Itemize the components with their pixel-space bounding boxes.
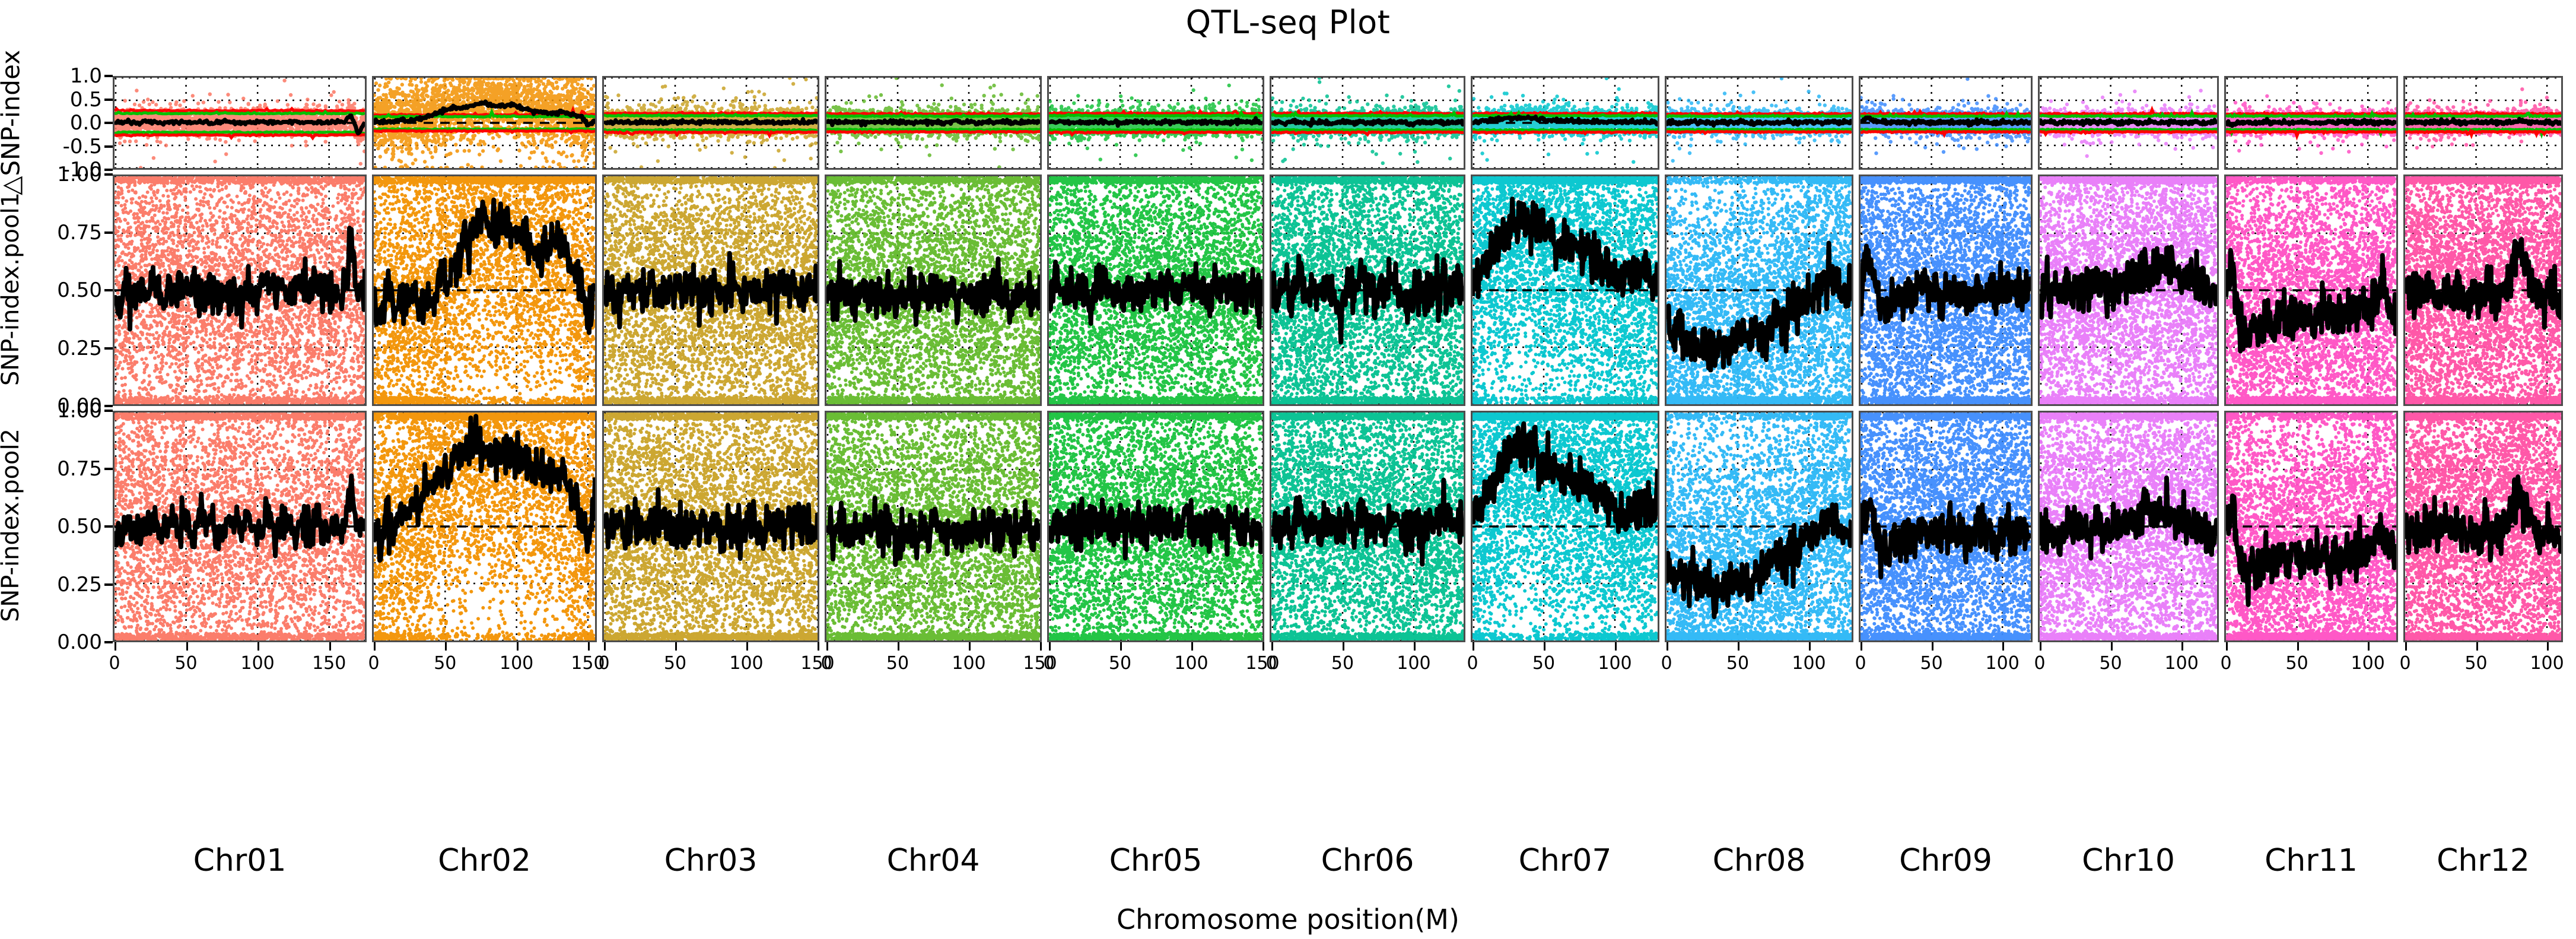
x-tick-mark-chr06-0 [1271, 642, 1273, 651]
panel-delta-chr08[interactable] [1665, 76, 1853, 170]
x-tick-mark-chr03-3 [818, 642, 819, 651]
panel-delta-chr07[interactable] [1471, 76, 1659, 170]
panel-inner [1667, 413, 1852, 640]
panel-canvas [2226, 413, 2396, 640]
y-axis-label-pool2: SNP-index.pool2 [0, 350, 24, 700]
panel-inner [2040, 176, 2217, 404]
x-tick-label-chr07-1: 50 [1532, 653, 1555, 674]
panel-delta-chr02[interactable] [372, 76, 597, 170]
facet-label-chr05: Chr05 [1047, 843, 1264, 878]
y-tick-mark-delta-0 [104, 75, 113, 77]
panel-pool2-chr08[interactable] [1665, 411, 1853, 642]
x-tick-label-chr04-0: 0 [820, 653, 832, 674]
facet-label-chr07: Chr07 [1471, 843, 1659, 878]
x-tick-mark-chr12-2 [2547, 642, 2549, 651]
x-tick-mark-chr07-1 [1544, 642, 1545, 651]
panel-inner [2405, 413, 2561, 640]
x-tick-mark-chr09-1 [1932, 642, 1933, 651]
panel-delta-chr05[interactable] [1047, 76, 1264, 170]
x-tick-label-chr11-0: 0 [2220, 653, 2231, 674]
panel-inner [2226, 176, 2396, 404]
x-tick-mark-chr02-0 [374, 642, 376, 651]
trend-line [826, 120, 1040, 125]
panel-pool2-chr12[interactable] [2403, 411, 2563, 642]
panel-canvas [2226, 176, 2396, 404]
ci-line [1667, 131, 1852, 133]
panel-inner [826, 413, 1040, 640]
panel-pool1-chr01[interactable] [113, 175, 367, 406]
x-tick-mark-chr11-1 [2297, 642, 2299, 651]
panel-canvas [2405, 78, 2561, 168]
panel-inner [115, 413, 365, 640]
y-tick-label-pool1-0: 1.00 [37, 163, 102, 186]
panel-canvas [826, 176, 1040, 404]
panel-canvas [374, 413, 595, 640]
y-tick-label-delta-3: -0.5 [37, 135, 102, 158]
panel-delta-chr12[interactable] [2403, 76, 2563, 170]
page-title: QTL-seq Plot [0, 4, 2576, 41]
x-tick-label-chr05-1: 50 [1109, 653, 1131, 674]
x-tick-label-chr11-2: 100 [2351, 653, 2385, 674]
y-tick-mark-pool2-0 [104, 410, 113, 412]
panel-inner [826, 176, 1040, 404]
y-tick-label-pool1-2: 0.50 [37, 278, 102, 302]
facet-label-chr02: Chr02 [372, 843, 597, 878]
y-tick-mark-delta-4 [104, 169, 113, 171]
panel-delta-chr01[interactable] [113, 76, 367, 170]
panel-canvas [1667, 78, 1852, 168]
panel-inner [1473, 78, 1658, 168]
panel-pool2-chr09[interactable] [1859, 411, 2033, 642]
x-tick-mark-chr12-1 [2476, 642, 2478, 651]
facet-label-chr09: Chr09 [1859, 843, 2033, 878]
x-tick-label-chr11-1: 50 [2285, 653, 2308, 674]
y-tick-mark-pool2-3 [104, 583, 113, 586]
x-tick-label-chr08-1: 50 [1726, 653, 1749, 674]
y-tick-mark-pool2-1 [104, 468, 113, 470]
y-tick-label-delta-1: 0.5 [37, 88, 102, 112]
x-tick-mark-chr10-2 [2181, 642, 2183, 651]
panel-inner [374, 78, 595, 168]
y-tick-label-pool2-2: 0.50 [37, 515, 102, 538]
facet-label-chr06: Chr06 [1270, 843, 1465, 878]
panel-pool2-chr07[interactable] [1471, 411, 1659, 642]
x-tick-label-chr03-2: 100 [729, 653, 763, 674]
x-tick-label-chr03-1: 50 [664, 653, 686, 674]
panel-inner [826, 78, 1040, 168]
panel-inner [1271, 176, 1464, 404]
panel-canvas [1049, 176, 1262, 404]
panel-inner [1049, 413, 1262, 640]
ci-line [1473, 132, 1658, 134]
panel-pool2-chr10[interactable] [2038, 411, 2219, 642]
ci-line [115, 135, 365, 138]
x-tick-label-chr02-2: 100 [500, 653, 533, 674]
panel-canvas [604, 413, 818, 640]
x-tick-label-chr03-0: 0 [598, 653, 609, 674]
x-tick-label-chr07-0: 0 [1467, 653, 1478, 674]
x-tick-mark-chr06-1 [1343, 642, 1344, 651]
x-tick-label-chr08-2: 100 [1792, 653, 1826, 674]
y-tick-label-pool1-1: 0.75 [37, 221, 102, 245]
panel-pool2-chr04[interactable] [825, 411, 1042, 642]
x-tick-mark-chr05-1 [1120, 642, 1122, 651]
panel-pool2-chr03[interactable] [602, 411, 819, 642]
y-tick-mark-pool1-3 [104, 347, 113, 350]
panel-inner [2226, 78, 2396, 168]
panel-canvas [1861, 413, 2031, 640]
x-tick-mark-chr01-2 [257, 642, 259, 651]
x-tick-mark-chr07-0 [1473, 642, 1474, 651]
x-tick-label-chr10-1: 50 [2100, 653, 2122, 674]
x-tick-label-chr12-2: 100 [2530, 653, 2564, 674]
x-tick-mark-chr11-2 [2368, 642, 2370, 651]
x-tick-mark-chr06-2 [1414, 642, 1416, 651]
panel-canvas [1271, 78, 1464, 168]
panel-delta-chr10[interactable] [2038, 76, 2219, 170]
facet-label-chr08: Chr08 [1665, 843, 1853, 878]
panel-canvas [2405, 176, 2561, 404]
x-tick-label-chr07-2: 100 [1598, 653, 1632, 674]
panel-inner [2226, 413, 2396, 640]
panel-inner [1049, 78, 1262, 168]
facet-label-chr10: Chr10 [2038, 843, 2219, 878]
panel-pool1-chr04[interactable] [825, 175, 1042, 406]
x-tick-mark-chr03-2 [746, 642, 748, 651]
y-tick-label-pool2-3: 0.25 [37, 573, 102, 597]
y-tick-mark-pool1-0 [104, 173, 113, 176]
panel-pool1-chr08[interactable] [1665, 175, 1853, 406]
x-tick-label-chr04-1: 50 [886, 653, 909, 674]
y-tick-mark-pool2-2 [104, 525, 113, 528]
panel-inner [604, 78, 818, 168]
x-tick-mark-chr08-0 [1667, 642, 1668, 651]
y-tick-label-pool2-0: 1.00 [37, 399, 102, 423]
x-tick-mark-chr05-2 [1191, 642, 1193, 651]
panel-canvas [374, 78, 595, 168]
x-tick-label-chr06-2: 100 [1397, 653, 1430, 674]
y-tick-mark-delta-2 [104, 122, 113, 124]
panel-canvas [826, 78, 1040, 168]
x-tick-label-chr06-0: 0 [1265, 653, 1277, 674]
x-tick-mark-chr05-3 [1262, 642, 1264, 651]
panel-canvas [1667, 176, 1852, 404]
panel-pool1-chr07[interactable] [1471, 175, 1659, 406]
y-tick-label-pool2-1: 0.75 [37, 457, 102, 481]
panel-inner [1667, 78, 1852, 168]
facet-label-chr01: Chr01 [113, 843, 367, 878]
panel-delta-chr09[interactable] [1859, 76, 2033, 170]
x-tick-label-chr01-2: 100 [241, 653, 275, 674]
x-tick-label-chr10-2: 100 [2165, 653, 2199, 674]
panel-pool1-chr09[interactable] [1859, 175, 2033, 406]
qtl-seq-plot-figure: QTL-seq Plot △SNP-index1.00.50.0-0.5-1.0… [0, 0, 2576, 939]
panel-canvas [1049, 78, 1262, 168]
panel-inner [2040, 78, 2217, 168]
panel-inner [1473, 176, 1658, 404]
panel-pool1-chr06[interactable] [1270, 175, 1465, 406]
x-tick-label-chr10-0: 0 [2034, 653, 2045, 674]
panel-pool1-chr12[interactable] [2403, 175, 2563, 406]
ci-line [2405, 112, 2561, 114]
ci-line [604, 112, 818, 114]
y-tick-mark-pool1-1 [104, 231, 113, 234]
x-tick-mark-chr09-2 [2002, 642, 2004, 651]
x-tick-label-chr05-0: 0 [1043, 653, 1054, 674]
scatter-points [2405, 87, 2561, 150]
panel-canvas [604, 176, 818, 404]
panel-delta-chr03[interactable] [602, 76, 819, 170]
x-tick-mark-chr04-1 [898, 642, 899, 651]
y-tick-label-delta-2: 0.0 [37, 111, 102, 135]
panel-canvas [1473, 78, 1658, 168]
x-tick-mark-chr04-0 [826, 642, 828, 651]
x-tick-mark-chr07-2 [1615, 642, 1617, 651]
panel-pool1-chr10[interactable] [2038, 175, 2219, 406]
y-tick-label-pool1-3: 0.25 [37, 337, 102, 360]
x-tick-label-chr08-0: 0 [1661, 653, 1672, 674]
panel-canvas [1049, 413, 1262, 640]
panel-inner [604, 413, 818, 640]
x-tick-label-chr09-1: 50 [1920, 653, 1942, 674]
panel-delta-chr11[interactable] [2224, 76, 2398, 170]
panel-inner [1473, 413, 1658, 640]
panel-pool2-chr02[interactable] [372, 411, 597, 642]
x-tick-label-chr01-0: 0 [109, 653, 120, 674]
x-tick-label-chr01-3: 150 [312, 653, 346, 674]
x-tick-mark-chr11-0 [2226, 642, 2228, 651]
x-tick-mark-chr03-1 [675, 642, 677, 651]
panel-inner [115, 176, 365, 404]
y-tick-label-delta-0: 1.0 [37, 64, 102, 88]
x-tick-label-chr04-2: 100 [952, 653, 985, 674]
ci-line [1667, 115, 1852, 116]
panel-pool1-chr11[interactable] [2224, 175, 2398, 406]
panel-inner [1049, 176, 1262, 404]
y-tick-mark-pool1-2 [104, 289, 113, 291]
x-tick-label-chr09-2: 100 [1986, 653, 2020, 674]
panel-canvas [2040, 176, 2217, 404]
panel-inner [604, 176, 818, 404]
ci-line [374, 131, 595, 133]
x-tick-mark-chr01-0 [115, 642, 116, 651]
x-tick-label-chr02-1: 50 [434, 653, 456, 674]
panel-canvas [1473, 413, 1658, 640]
facet-label-chr04: Chr04 [825, 843, 1042, 878]
y-tick-mark-pool2-4 [104, 641, 113, 643]
x-tick-mark-chr02-3 [588, 642, 590, 651]
panel-canvas [2040, 413, 2217, 640]
panel-inner [1861, 78, 2031, 168]
panel-canvas [1667, 413, 1852, 640]
scatter-path [2405, 87, 2561, 150]
panel-pool1-chr02[interactable] [372, 175, 597, 406]
panel-canvas [826, 413, 1040, 640]
panel-delta-chr04[interactable] [825, 76, 1042, 170]
y-tick-mark-delta-3 [104, 145, 113, 148]
x-tick-label-chr01-1: 50 [174, 653, 197, 674]
x-tick-label-chr09-0: 0 [1855, 653, 1866, 674]
x-tick-label-chr06-1: 50 [1331, 653, 1354, 674]
ci-line [826, 131, 1040, 133]
panel-inner [115, 78, 365, 168]
y-tick-mark-delta-1 [104, 99, 113, 101]
panel-inner [2405, 78, 2561, 168]
panel-inner [1667, 176, 1852, 404]
x-tick-mark-chr04-3 [1040, 642, 1042, 651]
panel-canvas [115, 413, 365, 640]
ci-line [604, 115, 818, 116]
panel-inner [1861, 176, 2031, 404]
x-tick-label-chr12-0: 0 [2399, 653, 2410, 674]
x-axis-label: Chromosome position(M) [0, 903, 2576, 935]
x-tick-mark-chr05-0 [1049, 642, 1051, 651]
panel-inner [374, 413, 595, 640]
facet-label-chr12: Chr12 [2403, 843, 2563, 878]
panel-pool2-chr05[interactable] [1047, 411, 1264, 642]
y-tick-mark-pool1-4 [104, 405, 113, 407]
panel-pool1-chr05[interactable] [1047, 175, 1264, 406]
x-tick-mark-chr02-1 [445, 642, 447, 651]
panel-pool1-chr03[interactable] [602, 175, 819, 406]
x-tick-label-chr05-2: 100 [1174, 653, 1208, 674]
panel-inner [2040, 413, 2217, 640]
panel-canvas [1473, 176, 1658, 404]
facet-label-chr03: Chr03 [602, 843, 819, 878]
panel-pool2-chr01[interactable] [113, 411, 367, 642]
x-tick-mark-chr04-2 [969, 642, 971, 651]
x-tick-mark-chr03-0 [604, 642, 606, 651]
panel-canvas [2040, 78, 2217, 168]
panel-canvas [1271, 413, 1464, 640]
panel-delta-chr06[interactable] [1270, 76, 1465, 170]
panel-canvas [2226, 78, 2396, 168]
x-tick-mark-chr08-2 [1809, 642, 1811, 651]
x-tick-label-chr12-1: 50 [2464, 653, 2487, 674]
panel-canvas [115, 176, 365, 404]
x-tick-mark-chr09-0 [1861, 642, 1862, 651]
panel-inner [2405, 176, 2561, 404]
panel-inner [1861, 413, 2031, 640]
facet-label-chr11: Chr11 [2224, 843, 2398, 878]
x-tick-mark-chr02-2 [517, 642, 519, 651]
panel-pool2-chr06[interactable] [1270, 411, 1465, 642]
trend-line [2040, 120, 2217, 125]
panel-inner [1271, 413, 1464, 640]
x-tick-label-chr02-0: 0 [368, 653, 379, 674]
x-tick-mark-chr10-0 [2040, 642, 2041, 651]
x-tick-mark-chr12-0 [2405, 642, 2407, 651]
x-tick-mark-chr01-1 [186, 642, 188, 651]
panel-canvas [115, 78, 365, 168]
panel-canvas [1861, 78, 2031, 168]
panel-canvas [1271, 176, 1464, 404]
x-tick-mark-chr10-1 [2111, 642, 2113, 651]
panel-canvas [2405, 413, 2561, 640]
panel-canvas [374, 176, 595, 404]
panel-pool2-chr11[interactable] [2224, 411, 2398, 642]
panel-canvas [1861, 176, 2031, 404]
x-tick-mark-chr08-1 [1738, 642, 1739, 651]
panel-canvas [604, 78, 818, 168]
ci-line [1473, 113, 1658, 114]
x-tick-mark-chr01-3 [329, 642, 331, 651]
y-tick-label-pool2-4: 0.00 [37, 630, 102, 654]
panel-inner [374, 176, 595, 404]
panel-inner [1271, 78, 1464, 168]
